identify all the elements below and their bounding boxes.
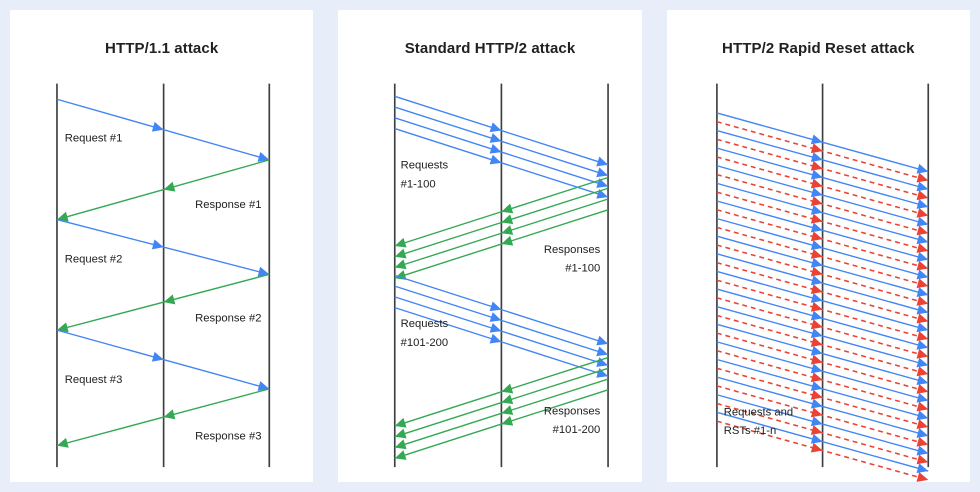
responses-1-100-label-line1: Responses [544, 244, 601, 256]
message-response-4 [56, 274, 270, 335]
requests-rsts-label-line2: RSTs #1-n [723, 425, 776, 437]
response-3-label: Response #3 [195, 431, 261, 443]
diagram-root: HTTP/1.1 attackRequest #1Response #1Requ… [0, 0, 980, 492]
arrowhead [916, 472, 929, 482]
sequence-diagram-http2-standard: Requests#1-100Responses#1-100Requests#10… [338, 10, 641, 482]
requests-101-200-label-line1: Requests [401, 318, 449, 330]
request-1-label: Request #1 [65, 132, 123, 144]
responses-101-200-label-line2: #101-200 [553, 424, 601, 436]
sequence-diagram-http11: Request #1Response #1Request #2Response … [10, 10, 313, 482]
sequence-diagram-http2-rapid-reset: Requests andRSTs #1-n [667, 10, 970, 482]
response-1-label: Response #1 [195, 199, 261, 211]
responses-101-200-label-line1: Responses [544, 405, 601, 417]
response-2-label: Response #2 [195, 312, 261, 324]
responses-1-100-label-line2: #1-100 [566, 262, 601, 274]
requests-101-200-label-line2: #101-200 [401, 337, 449, 349]
request-3-label: Request #3 [65, 374, 123, 386]
panel-http2-standard: Standard HTTP/2 attackRequests#1-100Resp… [338, 10, 641, 482]
message-response-2 [56, 160, 270, 225]
requests-1-100-label-line2: #1-100 [401, 178, 436, 190]
request-2-label: Request #2 [65, 254, 123, 266]
requests-rsts-label-line1: Requests and [723, 406, 792, 418]
panel-http2-rapid-reset: HTTP/2 Rapid Reset attackRequests andRST… [667, 10, 970, 482]
panel-http11: HTTP/1.1 attackRequest #1Response #1Requ… [10, 10, 313, 482]
requests-1-100-label-line1: Requests [401, 160, 449, 172]
